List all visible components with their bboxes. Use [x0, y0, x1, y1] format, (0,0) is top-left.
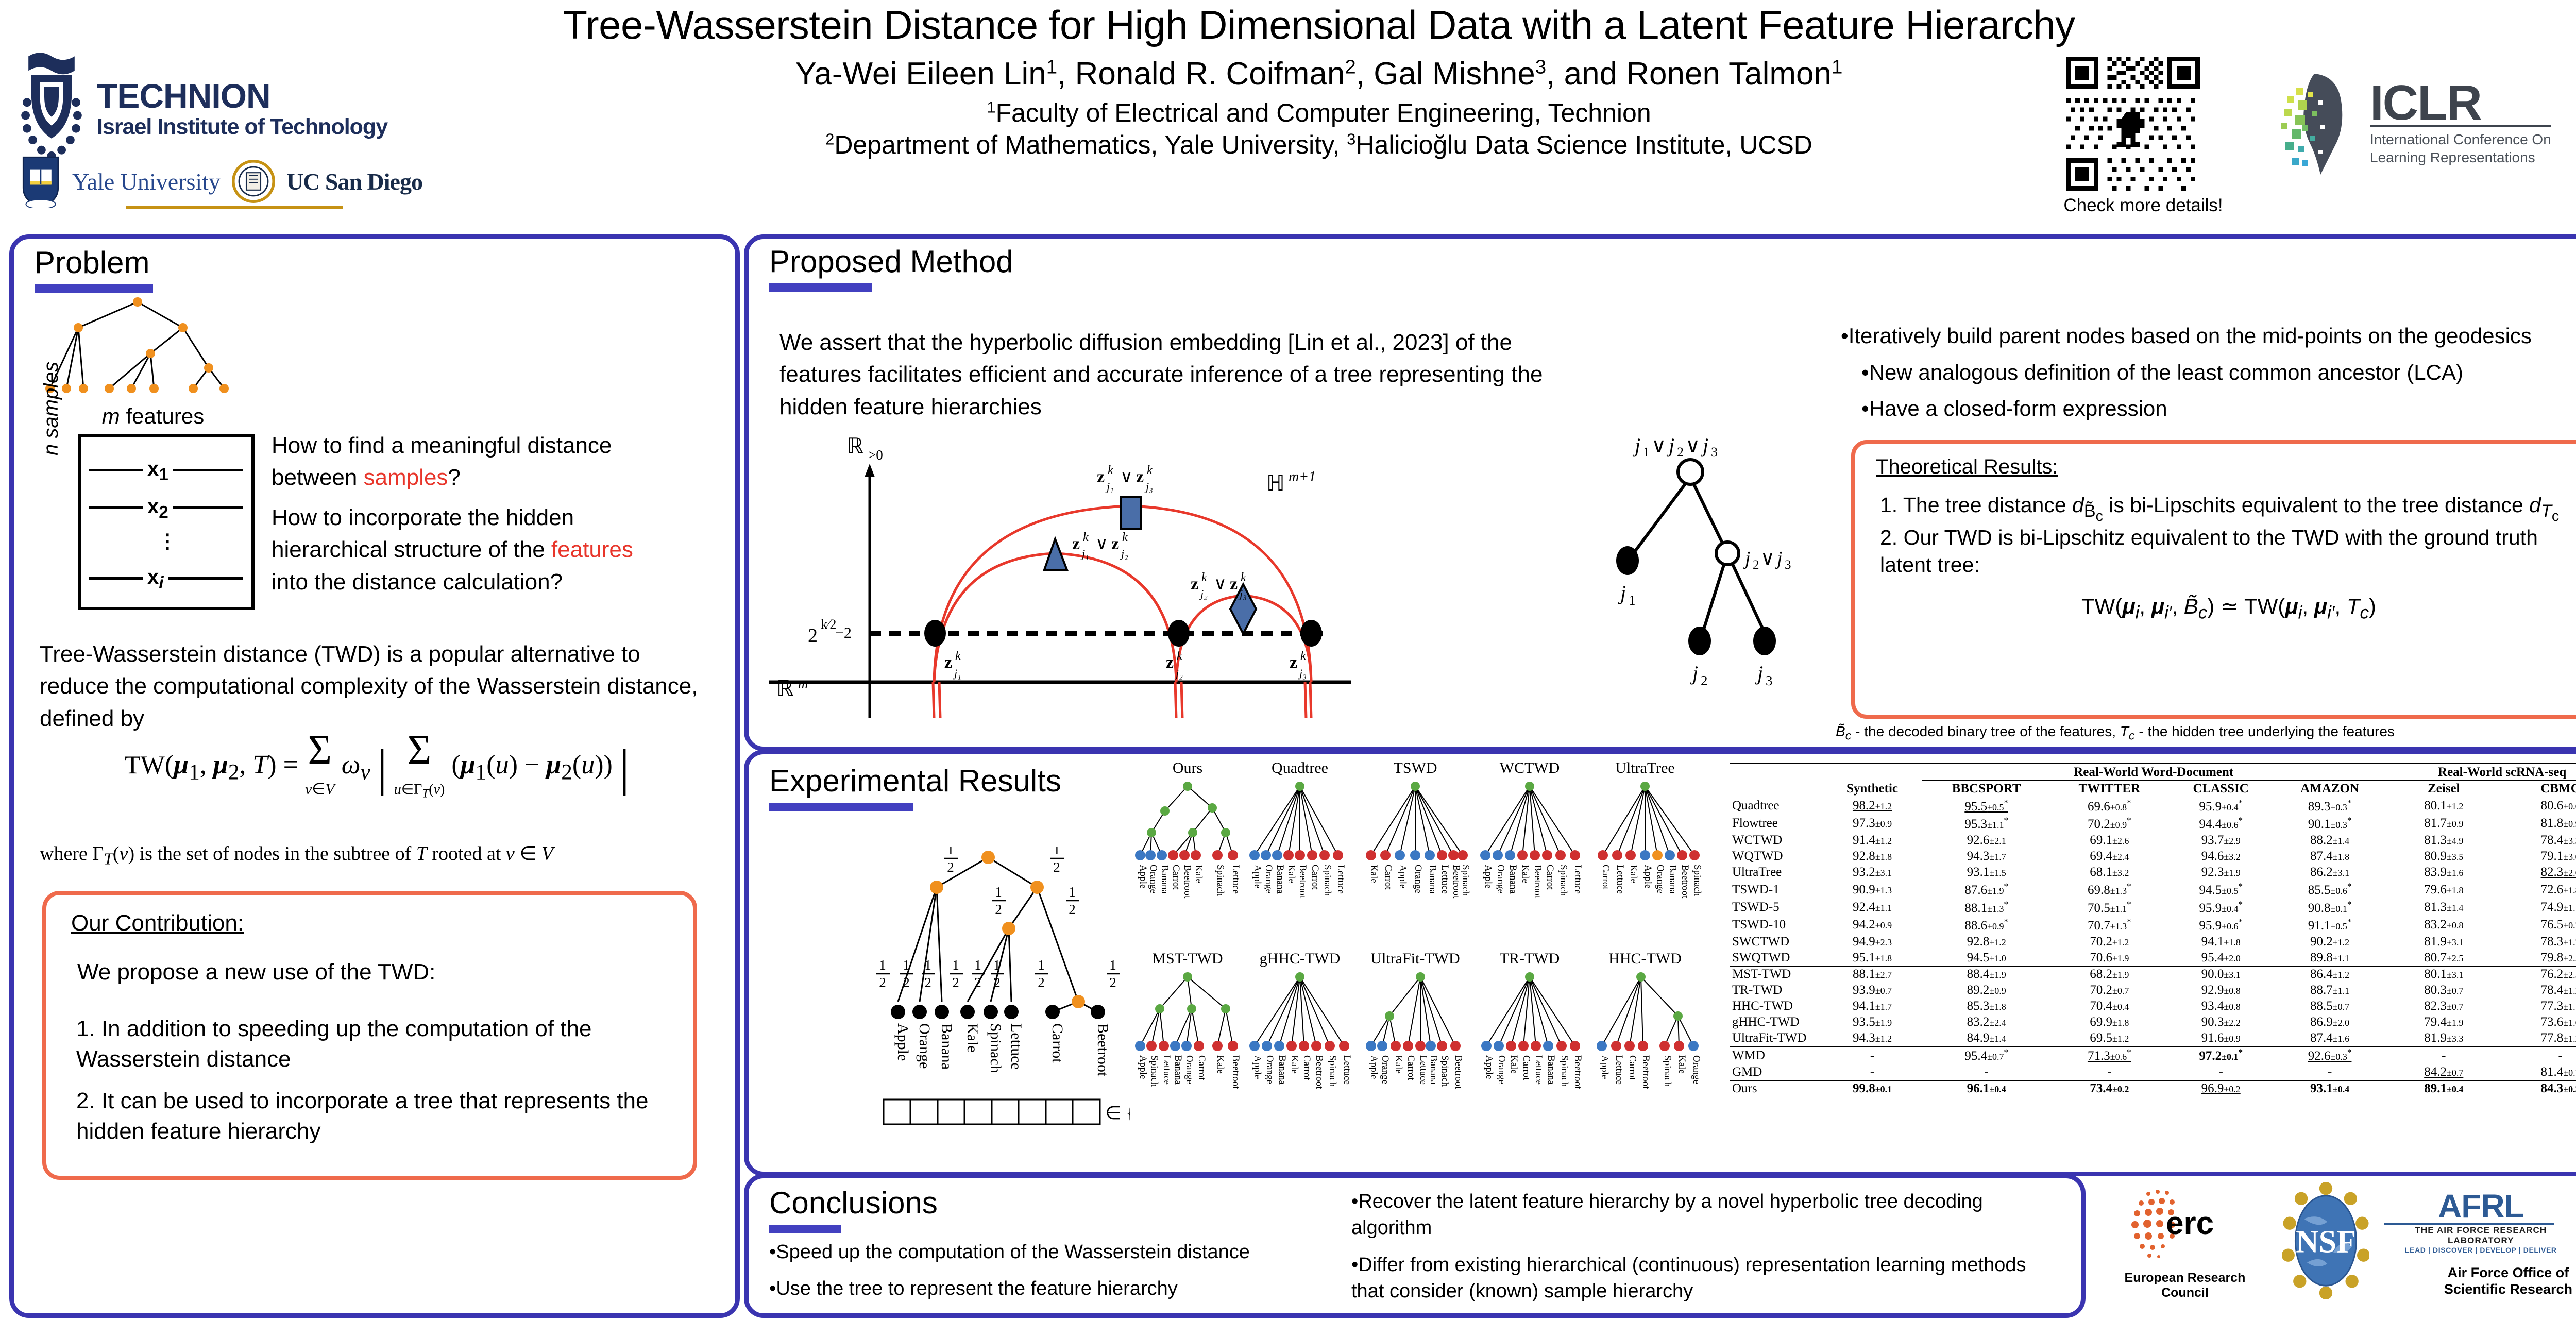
table-row: TR-TWD93.9±0.789.2±0.970.2±0.792.9±0.888… — [1730, 983, 2576, 999]
svg-text:z: z — [1191, 574, 1198, 594]
yale-wordmark: Yale University — [72, 168, 221, 195]
svg-text:Kale: Kale — [1286, 865, 1297, 883]
svg-text:Apple: Apple — [1138, 1055, 1148, 1079]
svg-text:k: k — [1083, 531, 1089, 544]
table-cell: 79.8±2.5 — [2502, 950, 2576, 967]
formula-note: where ΓT(v) is the set of nodes in the s… — [40, 842, 715, 869]
svg-text:Beetroot: Beetroot — [1182, 865, 1193, 899]
svg-text:3: 3 — [1711, 445, 1718, 460]
svg-text:Spinach: Spinach — [1559, 1055, 1570, 1087]
svg-text:Spinach: Spinach — [1460, 865, 1471, 897]
conclusions-left-list: •Speed up the computation of the Wassers… — [769, 1239, 1336, 1313]
svg-text:j₃: j₃ — [1144, 480, 1153, 493]
table-cell: 94.3±1.2 — [1823, 1030, 1922, 1047]
table-cell: 81.7±0.9 — [2385, 815, 2502, 832]
svg-text:1: 1 — [1069, 884, 1076, 900]
svg-text:Kale: Kale — [1215, 1055, 1226, 1074]
svg-text:Carrot: Carrot — [1521, 1055, 1532, 1080]
experimental-heading: Experimental Results — [769, 766, 1061, 811]
table-cell: 93.5±1.9 — [1823, 1014, 1922, 1030]
iclr-tagline: International Conference On Learning Rep… — [2370, 125, 2551, 166]
m-features-label: m features — [45, 404, 261, 429]
svg-text:ℝ: ℝ — [776, 677, 793, 701]
svg-text:Apple: Apple — [894, 1023, 911, 1061]
table-cell: 89.3±0.3* — [2274, 797, 2385, 815]
table-cell: 91.1±0.5* — [2274, 916, 2385, 934]
svg-text:Kale: Kale — [964, 1023, 981, 1053]
svg-text:1: 1 — [974, 957, 981, 973]
method-bullet-1: •New analogous definition of the least c… — [1861, 358, 2576, 387]
row-label: UltraTree — [1730, 865, 1823, 881]
table-cell: 94.4±0.6* — [2167, 815, 2274, 832]
conclusion-left-0: •Speed up the computation of the Wassers… — [769, 1239, 1336, 1265]
svg-text:Kale: Kale — [1393, 1055, 1404, 1074]
svg-text:2: 2 — [952, 975, 959, 990]
svg-text:Orange: Orange — [1496, 1055, 1507, 1084]
svg-text:z: z — [1072, 534, 1080, 553]
svg-text:∨: ∨ — [1760, 548, 1775, 569]
svg-text:Spinach: Spinach — [1149, 1055, 1160, 1087]
panel-conclusions: Conclusions •Speed up the computation of… — [744, 1174, 2086, 1318]
table-cell: 89.8±1.1 — [2274, 950, 2385, 967]
svg-text:Carrot: Carrot — [1600, 865, 1611, 890]
table-cell: 90.1±0.3* — [2274, 815, 2385, 832]
table-cell: 88.1±1.3* — [1922, 899, 2051, 916]
svg-text:2: 2 — [995, 902, 1002, 917]
table-cell: 87.6±1.9* — [1922, 881, 2051, 899]
svg-text:1: 1 — [1053, 847, 1060, 857]
svg-text:Kale: Kale — [1628, 865, 1639, 883]
table-cell: 92.9±0.8 — [2167, 983, 2274, 999]
table-cell: 91.4±1.2 — [1823, 833, 1922, 849]
table-cell: 88.1±2.7 — [1823, 966, 1922, 983]
matrix-row-label-i: xi — [143, 566, 168, 593]
table-cell: 72.6±1.8 — [2502, 881, 2576, 899]
table-cell: 68.2±1.9 — [2051, 966, 2167, 983]
table-row: TSWD-1094.2±0.988.6±0.9*70.7±1.3*95.9±0.… — [1730, 916, 2576, 934]
svg-text:ℝ: ℝ — [846, 435, 863, 459]
svg-text:Carrot: Carrot — [1405, 1055, 1416, 1080]
col-amazon: AMAZON — [2274, 781, 2385, 797]
svg-text:Apple: Apple — [1599, 1055, 1610, 1079]
svg-text:Kale: Kale — [1520, 865, 1531, 883]
matrix-ellipsis: ⋮ — [154, 530, 181, 553]
svg-text:Banana: Banana — [1173, 1055, 1183, 1085]
row-label: WMD — [1730, 1046, 1823, 1064]
row-label: TSWD-10 — [1730, 916, 1823, 934]
table-cell: 94.3±1.7 — [1922, 849, 2051, 865]
table-row: WMD-95.4±0.7*71.3±0.6*97.2±0.1*92.6±0.3*… — [1730, 1046, 2576, 1064]
row-label: MST-TWD — [1730, 966, 1823, 983]
table-cell: 81.8±0.9 — [2502, 815, 2576, 832]
col-bbcsport: BBCSPORT — [1922, 781, 2051, 797]
table-cell: 94.1±1.7 — [1823, 999, 1922, 1014]
table-cell: 92.8±1.8 — [1823, 849, 1922, 865]
table-row: SWCTWD94.9±2.392.8±1.270.2±1.294.1±1.890… — [1730, 934, 2576, 950]
svg-text:Spinach: Spinach — [1439, 1055, 1450, 1087]
group-header-synthetic: Synthetic — [1823, 764, 1922, 797]
table-cell: 85.3±1.8 — [1922, 999, 2051, 1014]
svg-text:2: 2 — [808, 625, 818, 647]
ucsd-seal-icon — [232, 160, 275, 203]
svg-text:Orange: Orange — [1691, 1055, 1702, 1084]
method-bullet-2: •Have a closed-form expression — [1861, 394, 2576, 424]
method-rule — [769, 283, 872, 292]
svg-text:1: 1 — [1109, 957, 1116, 973]
svg-text:j₂: j₂ — [1174, 667, 1183, 680]
page-title: Tree-Wasserstein Distance for High Dimen… — [222, 4, 2416, 46]
contribution-item-1: 1. In addition to speeding up the comput… — [76, 1013, 658, 1075]
qr-code-icon[interactable] — [2061, 57, 2205, 191]
svg-text:k: k — [1300, 649, 1306, 663]
tree-label-tr-twd: TR-TWD — [1500, 950, 1560, 967]
afrl-tagline: LEAD | DISCOVER | DEVELOP | DELIVER — [2384, 1246, 2576, 1254]
svg-text:Carrot: Carrot — [1301, 1055, 1312, 1080]
table-cell: 69.9±1.8 — [2051, 1014, 2167, 1030]
table-cell: 95.9±0.6* — [2167, 916, 2274, 934]
svg-text:Apple: Apple — [1252, 865, 1263, 888]
table-cell: - — [1823, 1046, 1922, 1064]
svg-text:Beetroot: Beetroot — [1230, 1055, 1241, 1089]
table-cell: 92.6±0.3* — [2274, 1046, 2385, 1064]
table-cell: 87.4±1.6 — [2274, 1030, 2385, 1047]
svg-text:k: k — [1201, 571, 1207, 584]
row-label: SWQTWD — [1730, 950, 1823, 967]
svg-text:2: 2 — [974, 975, 981, 990]
table-cell: - — [2502, 1046, 2576, 1064]
svg-text:Orange: Orange — [1263, 865, 1274, 893]
svg-text:>0: >0 — [868, 447, 883, 463]
table-cell: 80.3±0.7 — [2385, 983, 2502, 999]
svg-text:Banana: Banana — [1427, 865, 1438, 894]
svg-text:∨: ∨ — [1685, 434, 1700, 457]
afrl-caption-1: Air Force Office of — [2384, 1265, 2576, 1281]
method-heading: Proposed Method — [769, 246, 1181, 292]
svg-text:1: 1 — [1643, 445, 1650, 460]
table-cell: 92.3±1.9 — [2167, 865, 2274, 881]
conclusion-right-0: •Recover the latent feature hierarchy by… — [1351, 1189, 2062, 1242]
svg-text:Carrot: Carrot — [1196, 1055, 1207, 1080]
table-cell: 94.5±0.5* — [2167, 881, 2274, 899]
svg-text:−2: −2 — [835, 624, 852, 641]
svg-text:2: 2 — [1753, 558, 1759, 572]
row-label: UltraFit-TWD — [1730, 1030, 1823, 1047]
table-row: WCTWD91.4±1.292.6±2.169.1±2.693.7±2.988.… — [1730, 833, 2576, 849]
table-row: MST-TWD88.1±2.788.4±1.968.2±1.990.0±3.18… — [1730, 966, 2576, 983]
svg-text:2: 2 — [1038, 975, 1045, 990]
table-cell: 84.3±0.3 — [2502, 1080, 2576, 1097]
group-header-word-document: Real-World Word-Document — [1922, 764, 2385, 781]
table-cell: 79.6±1.8 — [2385, 881, 2502, 899]
table-cell: 86.4±1.2 — [2274, 966, 2385, 983]
table-cell: 90.2±1.2 — [2274, 934, 2385, 950]
ucsd-wordmark: UC San Diego — [286, 168, 422, 195]
table-cell: 83.9±1.6 — [2385, 865, 2502, 881]
results-group-header-row: Synthetic Real-World Word-Document Real-… — [1730, 764, 2576, 781]
svg-text:1: 1 — [924, 957, 931, 973]
panel-proposed-method: Proposed Method We assert that the hyper… — [744, 234, 2576, 751]
svg-text:k: k — [1122, 531, 1128, 544]
highlight-samples: samples — [364, 465, 448, 490]
table-cell: 76.2±2.5 — [2502, 966, 2576, 983]
svg-text:j: j — [1700, 434, 1708, 457]
svg-text:Lettuce: Lettuce — [1335, 865, 1346, 894]
row-label: WQTWD — [1730, 849, 1823, 865]
table-cell: 81.3±4.9 — [2385, 833, 2502, 849]
table-cell: 79.4±1.9 — [2385, 1014, 2502, 1030]
table-cell: 83.2±0.8 — [2385, 916, 2502, 934]
svg-text:Spinach: Spinach — [987, 1023, 1004, 1073]
tree-label-tswd: TSWD — [1394, 759, 1437, 776]
svg-text:Spinach: Spinach — [1558, 865, 1569, 897]
svg-text:Orange: Orange — [1413, 865, 1423, 893]
col-cbmc: CBMC — [2502, 781, 2576, 797]
svg-text:k: k — [1241, 571, 1246, 584]
svg-text:1: 1 — [1629, 593, 1636, 608]
table-cell: 93.4±0.8 — [2167, 999, 2274, 1014]
table-cell: - — [1922, 1064, 2051, 1081]
svg-text:2: 2 — [924, 975, 931, 990]
svg-text:ℍ: ℍ — [1266, 472, 1285, 496]
theory-formula: TW(μi, μi′, B̃c) ≃ TW(μi, μi′, Tc) — [1855, 594, 2576, 623]
table-cell: - — [2051, 1064, 2167, 1081]
table-cell: 80.9±3.5 — [2385, 849, 2502, 865]
table-cell: 88.4±1.9 — [1922, 966, 2051, 983]
svg-text:Apple: Apple — [1484, 1055, 1495, 1079]
svg-text:∨: ∨ — [1095, 534, 1108, 553]
svg-text:j₃: j₃ — [1298, 667, 1307, 680]
table-row: WQTWD92.8±1.894.3±1.769.4±2.494.6±3.287.… — [1730, 849, 2576, 865]
table-cell: 69.4±2.4 — [2051, 849, 2167, 865]
svg-text:Orange: Orange — [1148, 865, 1159, 893]
decoded-binary-tree-diagram: j 1 ∨ j 2 ∨ j 3 j 2 ∨ j 3 j 1 j 2 j 3 — [1573, 430, 1820, 698]
svg-text:k⁄2: k⁄2 — [821, 617, 836, 632]
table-cell: 88.5±0.7 — [2274, 999, 2385, 1014]
svg-text:1: 1 — [993, 957, 1001, 973]
svg-text:Carrot: Carrot — [1049, 1023, 1066, 1063]
table-cell: 90.9±1.3 — [1823, 881, 1922, 899]
table-row: UltraTree93.2±3.193.1±1.568.1±3.292.3±1.… — [1730, 865, 2576, 881]
table-cell: 94.6±3.2 — [2167, 849, 2274, 865]
table-cell: 93.7±2.9 — [2167, 833, 2274, 849]
panel-experimental-results: Experimental Results 12 12 12 12 12 12 — [744, 750, 2576, 1176]
svg-text:k: k — [955, 649, 961, 663]
svg-text:1: 1 — [879, 957, 886, 973]
svg-text:j: j — [1666, 434, 1674, 457]
table-cell: 69.6±0.8* — [2051, 797, 2167, 815]
svg-text:∨: ∨ — [1120, 467, 1133, 486]
table-cell: 76.5±0.7 — [2502, 916, 2576, 934]
nsf-logo-icon: NSF — [2282, 1181, 2369, 1300]
table-cell: 71.3±0.6* — [2051, 1046, 2167, 1064]
table-row: Quadtree98.2±1.295.5±0.5*69.6±0.8*95.9±0… — [1730, 797, 2576, 815]
twd-formula: TW(μ1, μ2, T) = Σv∈V ωv | Σu∈ΓT(v) (μ1(u… — [45, 734, 709, 801]
table-cell: - — [1823, 1064, 1922, 1081]
table-cell: 68.1±3.2 — [2051, 865, 2167, 881]
svg-text:2: 2 — [879, 975, 886, 990]
svg-text:Carrot: Carrot — [1310, 865, 1320, 890]
table-cell: 70.2±1.2 — [2051, 934, 2167, 950]
table-cell: 92.6±2.1 — [1922, 833, 2051, 849]
table-cell: - — [2167, 1064, 2274, 1081]
svg-text:Apple: Apple — [1397, 865, 1408, 888]
svg-text:j: j — [1774, 548, 1783, 569]
table-cell: 90.0±3.1 — [2167, 966, 2274, 983]
svg-text:Beetroot: Beetroot — [1572, 1055, 1583, 1089]
svg-text:j₂: j₂ — [1199, 587, 1208, 600]
tree-label-wctwd: WCTWD — [1500, 759, 1560, 776]
erc-caption: European Research Council — [2102, 1271, 2268, 1300]
svg-text:2: 2 — [1053, 859, 1060, 875]
svg-text:j: j — [1632, 434, 1640, 457]
conclusion-right-1: •Differ from existing hierarchical (cont… — [1351, 1252, 2062, 1305]
results-table: Synthetic Real-World Word-Document Real-… — [1730, 763, 2576, 1097]
afrl-wordmark: AFRL — [2384, 1191, 2576, 1222]
table-cell: 70.4±0.4 — [2051, 999, 2167, 1014]
table-row: gHHC-TWD93.5±1.983.2±2.469.9±1.890.3±2.2… — [1730, 1014, 2576, 1030]
svg-text:Banana: Banana — [1277, 1055, 1287, 1085]
table-cell: 70.2±0.7 — [2051, 983, 2167, 999]
yale-shield-icon — [21, 155, 61, 208]
svg-text:Lettuce: Lettuce — [1572, 865, 1583, 894]
svg-text:Lettuce: Lettuce — [1230, 865, 1241, 894]
svg-text:Spinach: Spinach — [1327, 1055, 1338, 1087]
svg-text:Banana: Banana — [1275, 865, 1285, 894]
hyperbolic-embedding-diagram: ℝ >0 ℝ m ℍ m+1 2 k⁄2 −2 z k j₁ ∨ z k j₃ … — [769, 430, 1583, 718]
afrl-caption-2: Scientific Research — [2384, 1281, 2576, 1297]
svg-text:Beetroot: Beetroot — [1451, 865, 1462, 899]
row-label: GMD — [1730, 1064, 1823, 1081]
table-cell: 69.1±2.6 — [2051, 833, 2167, 849]
svg-text:1: 1 — [1038, 957, 1045, 973]
svg-text:Apple: Apple — [1252, 1055, 1263, 1079]
svg-text:Banana: Banana — [1159, 865, 1170, 894]
svg-text:∨: ∨ — [1651, 434, 1666, 457]
svg-text:Orange: Orange — [1655, 865, 1666, 893]
svg-text:Carrot: Carrot — [1627, 1055, 1638, 1080]
table-cell: 88.2±1.4 — [2274, 833, 2385, 849]
table-cell: 83.2±2.4 — [1922, 1014, 2051, 1030]
experimental-rule — [769, 803, 913, 811]
iclr-brain-icon — [2267, 70, 2360, 178]
svg-text:Beetroot: Beetroot — [1532, 865, 1543, 899]
table-cell: 95.4±2.0 — [2167, 950, 2274, 967]
svg-text:1: 1 — [995, 884, 1002, 900]
qr-caption: Check more details! — [2061, 195, 2226, 216]
table-cell: 99.8±0.1 — [1823, 1080, 1922, 1097]
contribution-heading: Our Contribution: — [71, 910, 244, 936]
table-cell: 93.1±0.4 — [2274, 1080, 2385, 1097]
data-matrix: x1 x2 ⋮ xi — [78, 434, 255, 610]
table-cell: 69.5±1.2 — [2051, 1030, 2167, 1047]
svg-text:2: 2 — [1701, 673, 1708, 688]
table-cell: 79.1±3.0 — [2502, 849, 2576, 865]
svg-text:2: 2 — [993, 975, 1001, 990]
afrl-logo: AFRL THE AIR FORCE RESEARCH LABORATORY L… — [2384, 1183, 2576, 1297]
svg-text:Beetroot: Beetroot — [1453, 1055, 1464, 1089]
question-2: How to incorporate the hidden hierarchic… — [272, 502, 715, 598]
svg-text:z: z — [1290, 653, 1297, 672]
svg-text:2: 2 — [1069, 902, 1076, 917]
table-row: Flowtree97.3±0.995.3±1.1*70.2±0.9*94.4±0… — [1730, 815, 2576, 832]
row-label: Flowtree — [1730, 815, 1823, 832]
matrix-row-label-2: x2 — [143, 495, 173, 522]
svg-text:m+1: m+1 — [1289, 469, 1316, 485]
row-label: SWCTWD — [1730, 934, 1823, 950]
table-cell: 74.9±1.1 — [2502, 899, 2576, 916]
table-cell: 93.1±1.5 — [1922, 865, 2051, 881]
table-cell: 87.4±1.8 — [2274, 849, 2385, 865]
erc-logo: erc European Research Council — [2102, 1180, 2268, 1300]
tree-label-quadtree: Quadtree — [1272, 759, 1328, 776]
svg-text:1: 1 — [947, 847, 954, 857]
table-row: TSWD-190.9±1.387.6±1.9*69.8±1.3*94.5±0.5… — [1730, 881, 2576, 899]
table-cell: 89.2±0.9 — [1922, 983, 2051, 999]
tree-label-mst-twd: MST-TWD — [1152, 950, 1223, 967]
table-cell: 95.5±0.5* — [1922, 797, 2051, 815]
svg-text:Banana: Banana — [1507, 865, 1518, 894]
row-label: gHHC-TWD — [1730, 1014, 1823, 1030]
iclr-wordmark: ICLR — [2370, 81, 2551, 125]
table-cell: 95.3±1.1* — [1922, 815, 2051, 832]
svg-text:Apple: Apple — [1483, 865, 1494, 888]
svg-text:Spinach: Spinach — [1322, 865, 1333, 897]
svg-text:Spinach: Spinach — [1215, 865, 1226, 897]
svg-text:Orange: Orange — [1495, 865, 1506, 893]
table-cell: 81.9±3.3 — [2385, 1030, 2502, 1047]
svg-text:j: j — [1618, 581, 1626, 604]
svg-text:j₃: j₃ — [1238, 587, 1247, 600]
svg-text:j: j — [1690, 662, 1698, 685]
svg-text:z: z — [1111, 534, 1119, 553]
svg-text:∨: ∨ — [1214, 574, 1227, 594]
svg-text:2: 2 — [947, 859, 954, 875]
svg-text:j₁: j₁ — [953, 667, 961, 680]
tree-label-ultrafit-twd: UltraFit-TWD — [1370, 950, 1460, 967]
svg-text:Kale: Kale — [1676, 1055, 1687, 1074]
row-label: TSWD-5 — [1730, 899, 1823, 916]
svg-text:z: z — [1097, 467, 1105, 486]
svg-text:Kale: Kale — [1193, 865, 1204, 883]
table-cell: 86.2±3.1 — [2274, 865, 2385, 881]
svg-text:Lettuce: Lettuce — [1418, 1055, 1429, 1085]
table-cell: 80.7±2.5 — [2385, 950, 2502, 967]
problem-rule — [35, 284, 153, 293]
svg-text:Apple: Apple — [1642, 865, 1653, 888]
table-cell: 77.3±1.1 — [2502, 999, 2576, 1014]
table-cell: 78.4±1.2 — [2502, 983, 2576, 999]
svg-text:2: 2 — [903, 975, 910, 990]
tree-label-hhc-twd: HHC-TWD — [1608, 950, 1682, 967]
svg-text:Orange: Orange — [1184, 1055, 1195, 1084]
table-cell: 82.3±0.7 — [2385, 999, 2502, 1014]
theory-item-2: 2. Our TWD is bi-Lipschitz equivalent to… — [1880, 524, 2576, 579]
problem-heading: Problem — [35, 247, 292, 293]
conclusion-left-1: •Use the tree to represent the feature h… — [769, 1276, 1336, 1302]
svg-text:Spinach: Spinach — [1692, 865, 1703, 897]
svg-text:Lettuce: Lettuce — [1614, 1055, 1624, 1085]
table-cell: 84.2±0.7 — [2385, 1064, 2502, 1081]
matrix-row-label-1: x1 — [143, 458, 173, 485]
table-cell: 69.8±1.3* — [2051, 881, 2167, 899]
table-cell: 92.4±1.1 — [1823, 899, 1922, 916]
svg-text:Lettuce: Lettuce — [1439, 865, 1450, 894]
table-cell: 93.9±0.7 — [1823, 983, 1922, 999]
question-1: How to find a meaningful distance betwee… — [272, 430, 709, 494]
qr-code-block[interactable]: Check more details! — [2061, 57, 2236, 211]
table-row: TSWD-592.4±1.188.1±1.3*70.5±1.1*95.9±0.4… — [1730, 899, 2576, 916]
table-row: GMD-----84.2±0.781.4±0.7 — [1730, 1064, 2576, 1081]
